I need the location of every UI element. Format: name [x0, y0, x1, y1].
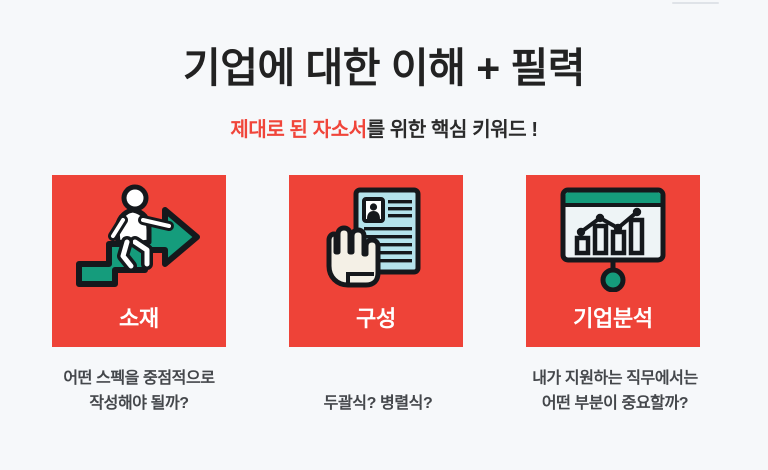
person-climbing-stairs-arrow-icon — [52, 183, 226, 293]
caption-line: 작성해야 될까? — [14, 391, 264, 416]
card-sojae[interactable]: 소재 — [52, 175, 226, 347]
card-caption-gieopbunseok: 내가 지원하는 직무에서는 어떤 부분이 중요할까? — [490, 366, 740, 416]
card-guseong[interactable]: 구성 — [289, 175, 463, 347]
card-gieopbunseok[interactable]: 기업분석 — [526, 175, 700, 347]
card-label: 구성 — [289, 305, 463, 333]
caption-line: 어떤 부분이 중요할까? — [490, 391, 740, 416]
page-subtitle: 제대로 된 자소서를 위한 핵심 키워드 ! — [0, 117, 768, 143]
subtitle-highlight: 제대로 된 자소서 — [230, 119, 366, 141]
subtitle-rest: 를 위한 핵심 키워드 ! — [367, 119, 538, 141]
caption-line: 내가 지원하는 직무에서는 — [490, 366, 740, 391]
card-label: 기업분석 — [526, 305, 700, 333]
presentation-chart-board-icon — [526, 183, 700, 293]
caption-line: 두괄식? 병렬식? — [253, 391, 503, 416]
top-divider-line — [672, 2, 719, 4]
card-caption-sojae: 어떤 스펙을 중점적으로 작성해야 될까? — [14, 366, 264, 416]
slide-canvas: 기업에 대한 이해 + 필력 제대로 된 자소서를 위한 핵심 키워드 ! — [0, 0, 768, 470]
card-caption-guseong: 두괄식? 병렬식? — [253, 391, 503, 416]
card-label: 소재 — [52, 305, 226, 333]
hand-holding-resume-icon — [289, 183, 463, 293]
page-title: 기업에 대한 이해 + 필력 — [0, 44, 768, 92]
card-row: 소재 — [52, 175, 700, 347]
caption-line: 어떤 스펙을 중점적으로 — [14, 366, 264, 391]
